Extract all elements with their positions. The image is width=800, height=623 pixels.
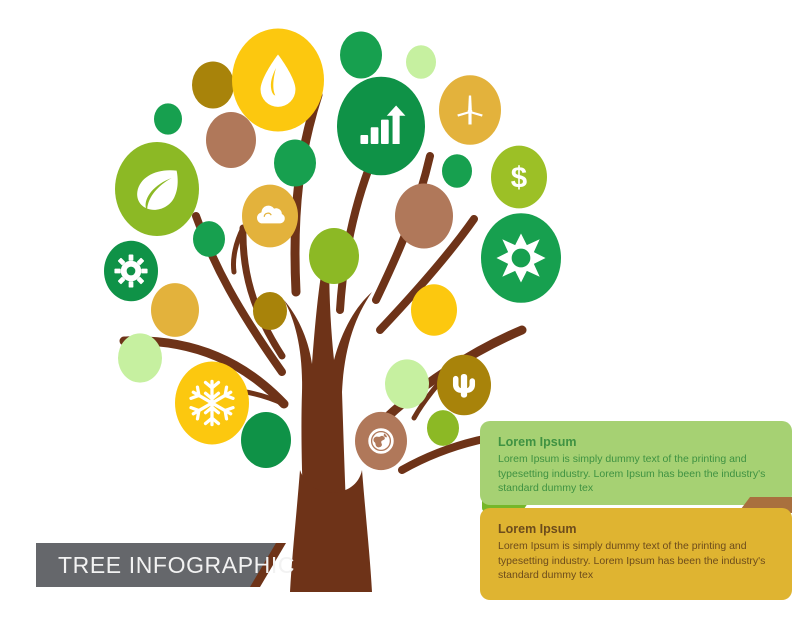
canopy-circle	[241, 412, 291, 468]
canopy-circle	[193, 221, 225, 257]
dollar-node[interactable]	[491, 146, 547, 209]
canopy-circle	[406, 45, 436, 79]
canopy-circle	[427, 410, 459, 446]
canopy-circle	[309, 228, 359, 284]
gold-card-body: Lorem Ipsum is simply dummy text of the …	[498, 539, 766, 583]
canopy-circle	[154, 103, 182, 134]
green-card-body: Lorem Ipsum is simply dummy text of the …	[498, 452, 766, 496]
tree-infographic-canvas: $	[0, 0, 800, 623]
canopy-circle	[340, 31, 382, 78]
gear-node[interactable]	[104, 241, 158, 301]
wind-turbine-node[interactable]	[439, 75, 501, 144]
cloud-node[interactable]	[242, 185, 298, 248]
canopy-circle	[206, 112, 256, 168]
leaf-node[interactable]	[115, 142, 199, 236]
green-card-title: Lorem Ipsum	[498, 435, 774, 450]
canopy-circle	[151, 283, 199, 337]
canopy-circle	[395, 184, 453, 249]
sun-icon	[496, 233, 545, 282]
globe-icon	[370, 430, 393, 453]
globe-node[interactable]	[355, 412, 407, 470]
growth-chart-node[interactable]	[337, 77, 425, 176]
cactus-node[interactable]	[437, 355, 491, 415]
gold-card-title: Lorem Ipsum	[498, 522, 774, 537]
title-banner: TREE INFOGRAPHIC	[36, 543, 286, 587]
canopy-circle	[118, 333, 162, 382]
canopy-circle	[385, 359, 429, 408]
canopy-circle	[411, 284, 457, 336]
canopy-circle	[115, 142, 199, 236]
canopy-circle	[253, 292, 287, 330]
canopy-circle	[337, 77, 425, 176]
gear-icon	[114, 254, 147, 287]
canopy-circle	[274, 139, 316, 186]
canopy-circle	[192, 61, 234, 108]
page-title: TREE INFOGRAPHIC	[58, 543, 295, 587]
snowflake-node[interactable]	[175, 362, 249, 445]
callout-card-green[interactable]: Lorem Ipsum Lorem Ipsum is simply dummy …	[480, 421, 792, 505]
sun-node[interactable]	[481, 213, 561, 303]
callout-card-gold[interactable]: Lorem Ipsum Lorem Ipsum is simply dummy …	[480, 508, 792, 600]
water-drop-node[interactable]	[232, 28, 324, 131]
canopy-circle	[442, 154, 472, 188]
dollar-icon	[511, 162, 527, 195]
